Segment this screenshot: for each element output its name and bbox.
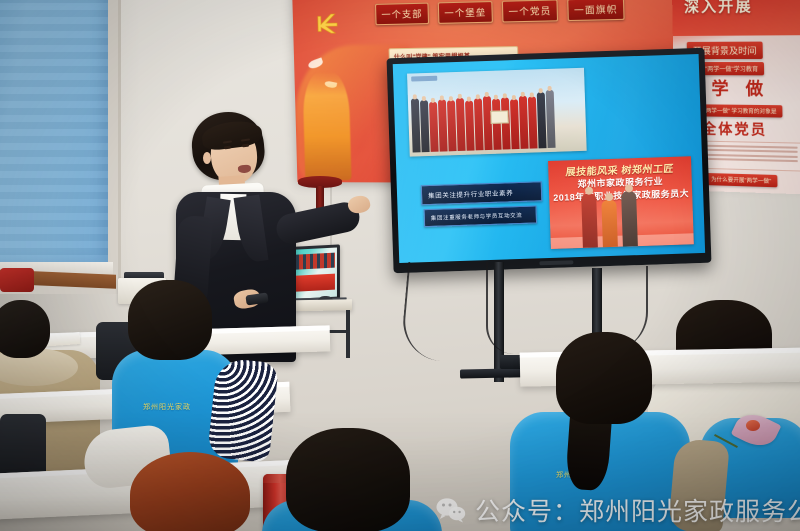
banner-tab: 一个支部 (375, 3, 429, 26)
presentation-tv[interactable]: 展技能风采 树郑州工匠 郑州市家政服务行业 2018年度职业技能家政服务员大赛 … (387, 48, 712, 273)
banner-tab: 一个党员 (502, 0, 558, 22)
board-right-big-1: 学 做 (711, 74, 769, 100)
attendee-head (0, 300, 50, 358)
tv-cable (486, 262, 514, 354)
red-bag (0, 268, 34, 292)
presenter-ear (203, 152, 211, 164)
party-emblem-icon (315, 11, 346, 36)
board-right-big-2: 全体党员 (702, 118, 767, 139)
attendee-head (286, 428, 410, 531)
chair-back (0, 414, 46, 480)
vest-logo-text: 郑州阳光家政 (143, 402, 191, 412)
tv-screen[interactable]: 展技能风采 树郑州工匠 郑州市家政服务行业 2018年度职业技能家政服务员大赛 … (393, 54, 705, 263)
photo-logo (411, 76, 437, 82)
photo-plaque (490, 110, 508, 124)
attendee-head (128, 280, 212, 360)
slide-photo-group (407, 68, 587, 157)
board-right-title: 深入开展 (684, 0, 753, 17)
board-right-tab-3: 为什么要开展"两学一做" (705, 173, 777, 187)
presenter-lapel-right (234, 195, 269, 264)
banner-tab: 一个堡垒 (438, 1, 493, 24)
award-people (581, 191, 638, 248)
window-blind (0, 0, 108, 262)
slide-caption-1: 集团关注提升行业职业素养 (421, 181, 543, 205)
attendee-head (556, 332, 652, 424)
photo-people-row (411, 90, 556, 153)
slide-photo-award: 展技能风采 树郑州工匠 郑州市家政服务行业 2018年度职业技能家政服务员大赛 (548, 156, 694, 249)
board-right-note (694, 140, 800, 171)
board-right-tab-2: "两学一做" 学习教育的对象是 (698, 104, 783, 117)
attendee-polkadot-sleeve (207, 357, 279, 463)
attendee-head (130, 452, 250, 531)
rose-bud (746, 420, 760, 431)
slide-caption-2: 集团注重服务老师与学员互动交流 (424, 205, 538, 227)
attendee-arm (668, 438, 730, 531)
photo-scene: 一个支部 一个堡垒 一个党员 一面旗帜 什么叫"党建" 筑牢思想根基 开展党支部… (0, 0, 800, 531)
banner-tab: 一面旗帜 (567, 0, 624, 21)
